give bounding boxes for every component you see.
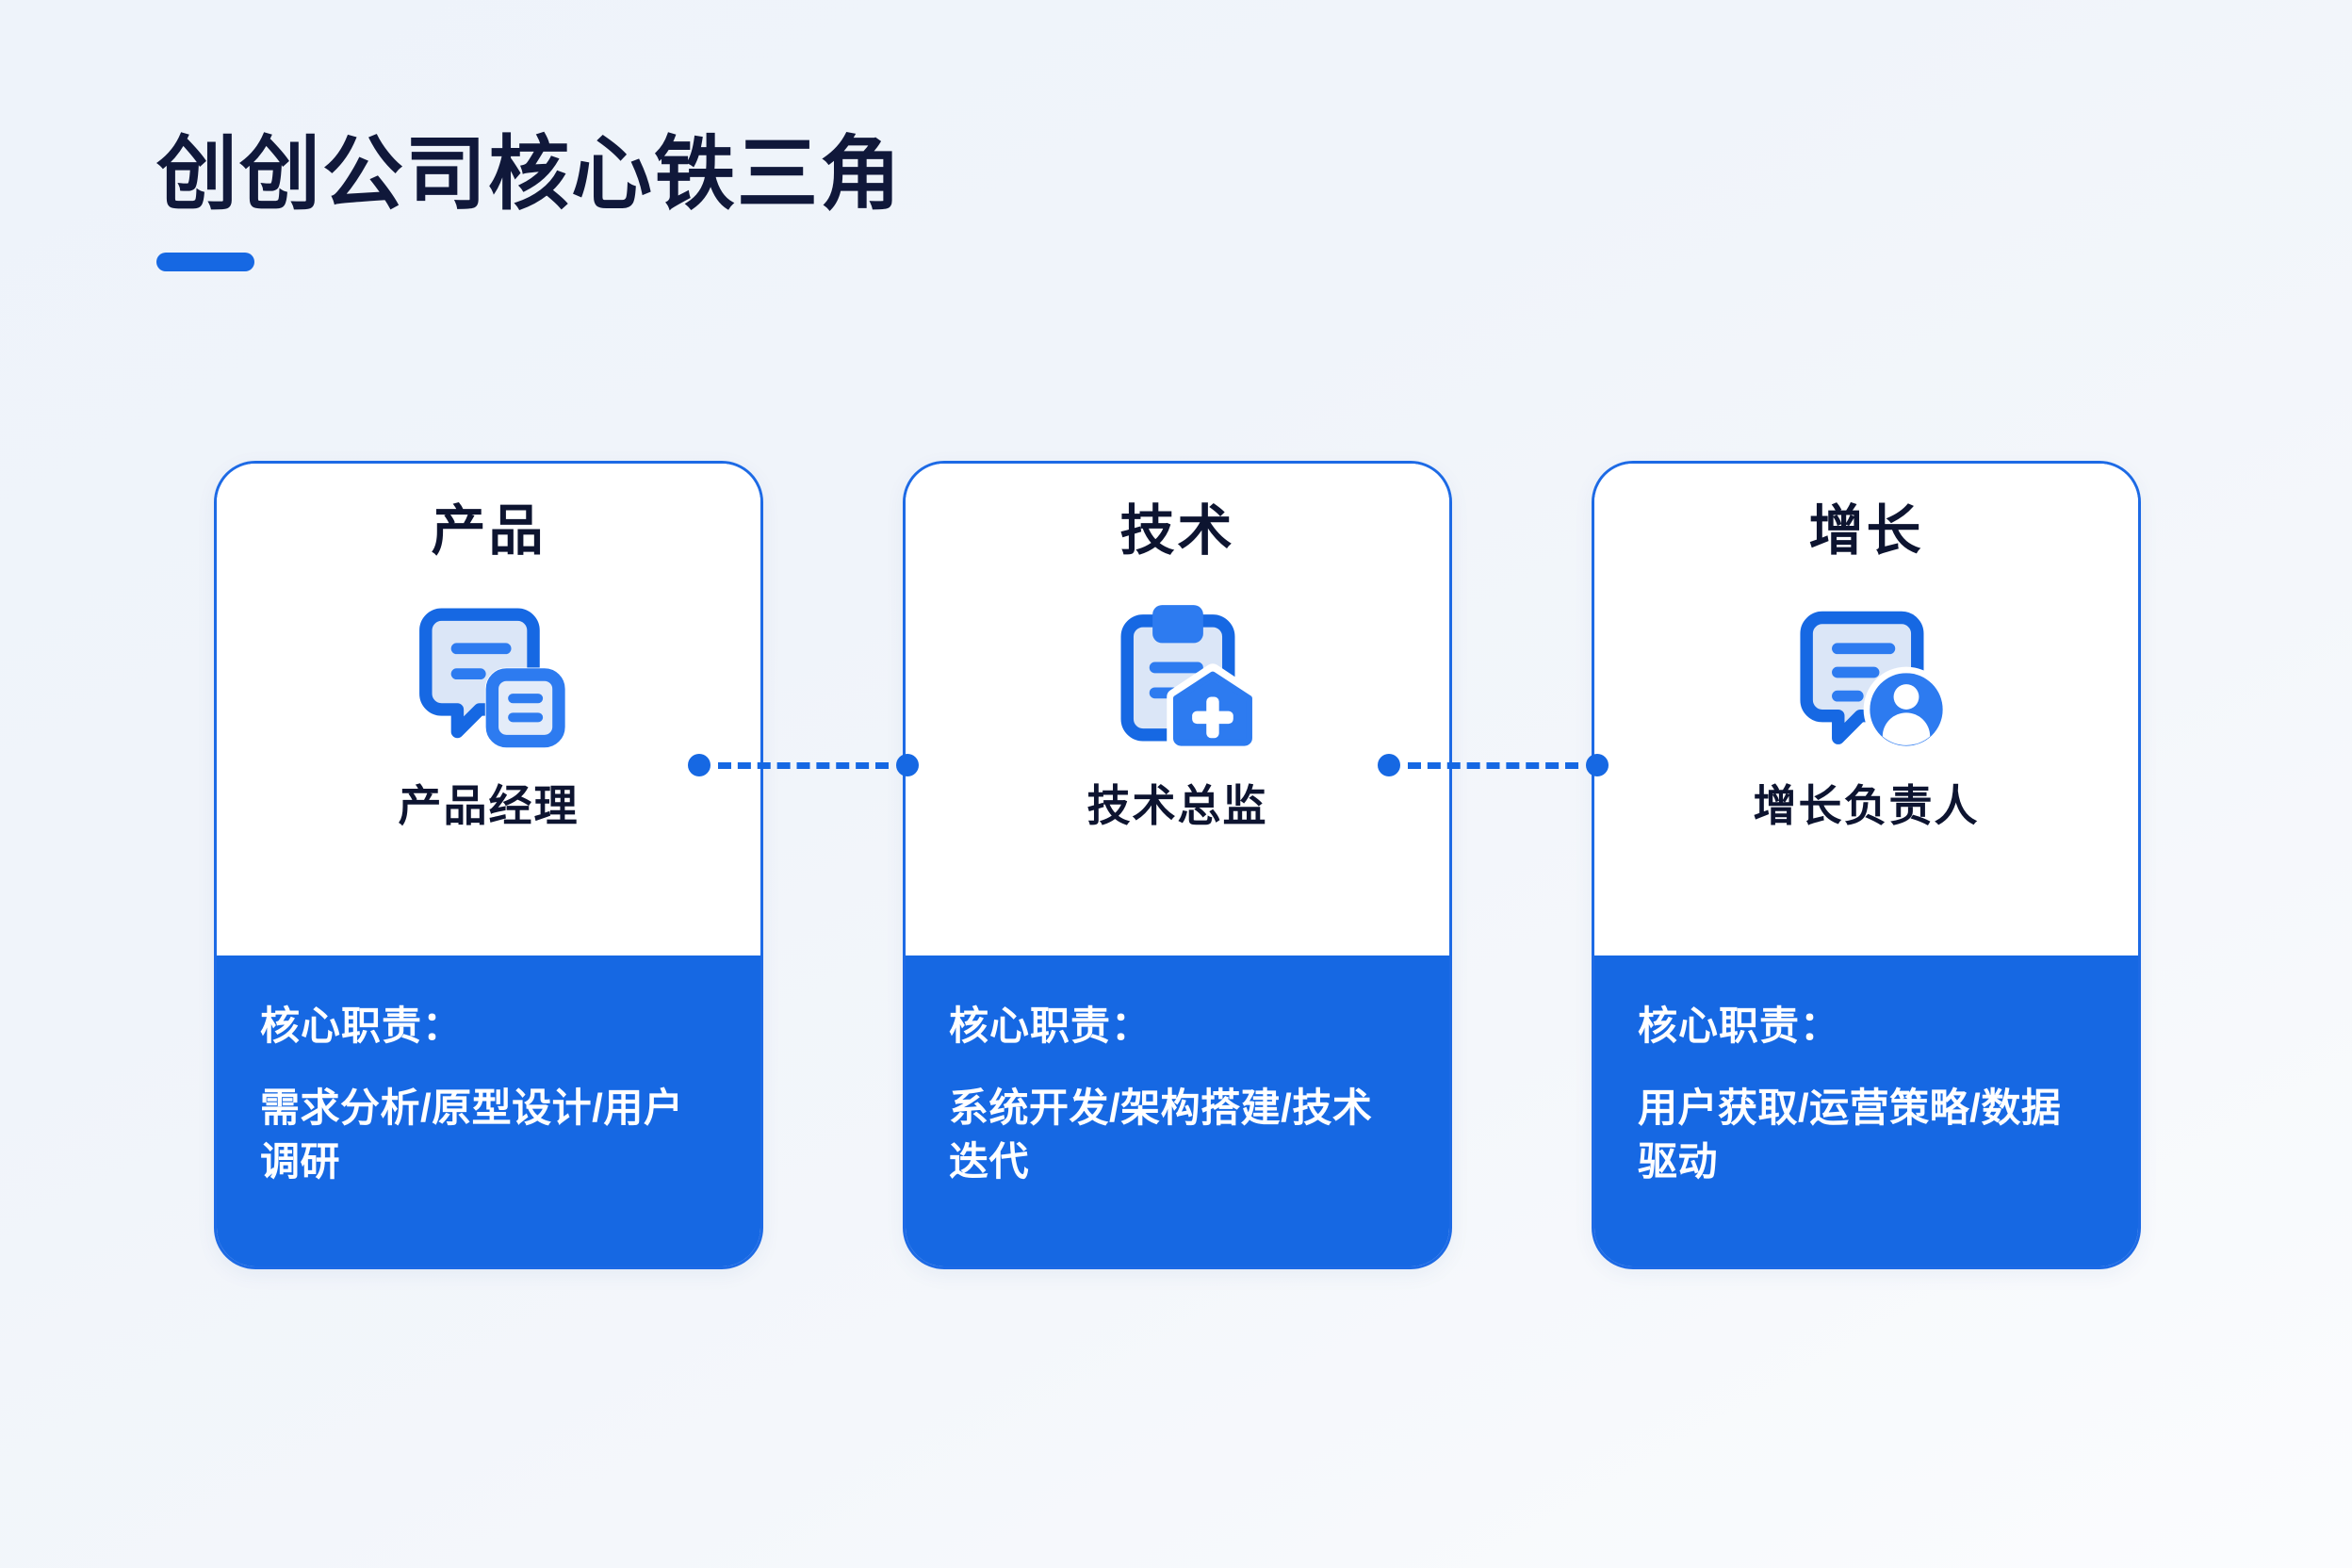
connector-dashed-line: [1408, 762, 1578, 769]
duty-label: 核心职责：: [949, 1003, 1406, 1050]
duty-label: 核心职责：: [1638, 1003, 2095, 1050]
connector-product-to-tech: [688, 754, 919, 776]
card-bottom-section: 核心职责： 系统开发/架构搭建/技术迭代: [906, 955, 1449, 1266]
duty-text: 系统开发/架构搭建/技术迭代: [949, 1082, 1406, 1188]
slide-canvas: 创创公司核心铁三角 产品: [0, 0, 2352, 1568]
duty-label: 核心职责：: [260, 1003, 717, 1050]
card-top-section: 产品 产品经理: [217, 464, 760, 955]
role-card-product[interactable]: 产品 产品经理 核心职责： 需求分析/原型设计/用户调研: [214, 461, 763, 1269]
chat-user-icon: [1788, 596, 1946, 754]
connector-dot-right: [1586, 754, 1609, 776]
role-cards-row: 产品 产品经理 核心职责： 需求分析/原型设计/用户调研: [214, 461, 2141, 1269]
title-accent-bar: [156, 253, 254, 271]
header: 创创公司核心铁三角: [156, 132, 903, 271]
connector-dot-left: [688, 754, 710, 776]
card-domain-label: 技术: [1119, 501, 1234, 562]
connector-dashed-line: [718, 762, 889, 769]
card-bottom-section: 核心职责： 需求分析/原型设计/用户调研: [217, 955, 760, 1266]
document-chat-icon: [410, 596, 568, 754]
connector-dot-left: [1378, 754, 1400, 776]
role-card-growth[interactable]: 增长 增长负责人 核心职责： 用户获: [1592, 461, 2141, 1269]
card-top-section: 增长 增长负责人: [1594, 464, 2138, 955]
card-domain-label: 增长: [1808, 501, 1923, 562]
role-card-technology[interactable]: 技术 技术总监 核心职责： 系统开发: [903, 461, 1452, 1269]
card-bottom-section: 核心职责： 用户获取/运营策略/数据驱动: [1594, 955, 2138, 1266]
card-domain-label: 产品: [431, 501, 546, 562]
card-role-label: 增长负责人: [1754, 782, 1980, 830]
connector-dot-right: [896, 754, 919, 776]
duty-text: 用户获取/运营策略/数据驱动: [1638, 1082, 2095, 1188]
connector-tech-to-growth: [1378, 754, 1609, 776]
clipboard-plus-icon: [1099, 596, 1257, 754]
page-title: 创创公司核心铁三角: [156, 132, 903, 217]
duty-text: 需求分析/原型设计/用户调研: [260, 1082, 717, 1188]
card-role-label: 技术总监: [1087, 782, 1268, 830]
card-role-label: 产品经理: [399, 782, 580, 830]
card-top-section: 技术 技术总监: [906, 464, 1449, 955]
